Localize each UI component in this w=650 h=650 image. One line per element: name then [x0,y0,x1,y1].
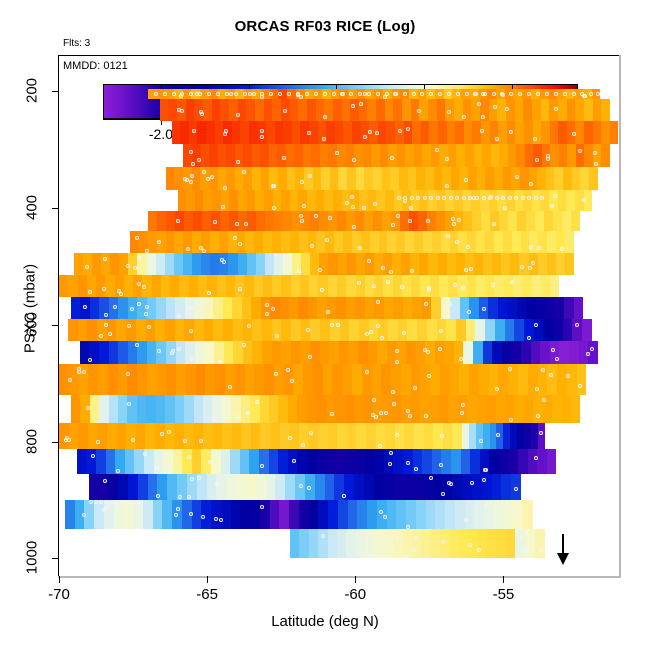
track-point-marker [195,313,199,317]
heatmap-cell [532,99,541,121]
y-axis-title: PSXC (mbar) [22,219,39,399]
heatmap-cell [496,395,505,423]
track-point-marker [380,336,384,340]
x-axis-tick-label: -55 [493,586,515,603]
heatmap-cell [290,190,299,210]
heatmap-cell [431,529,440,558]
heatmap-cell [272,275,281,297]
heatmap-cell [213,319,223,341]
heatmap-cell [523,190,532,210]
heatmap-cell [337,423,347,449]
heatmap-cell [320,144,329,167]
heatmap-cell [426,500,436,529]
track-point-marker [198,92,202,96]
heatmap-cell [419,253,428,275]
heatmap-cell [174,253,183,275]
heatmap-cell [266,474,276,500]
heatmap-cell [336,297,345,319]
heatmap-cell [216,474,226,500]
heatmap-cell [411,364,421,394]
heatmap-cell [408,167,417,190]
track-point-marker [550,204,554,208]
heatmap-cell [547,231,556,253]
heatmap-cell [498,121,507,143]
heatmap-cell [281,341,291,364]
heatmap-cell [182,449,192,474]
track-point-marker [445,184,449,188]
track-point-marker [492,92,496,96]
heatmap-cell [452,423,462,449]
heatmap-cell [526,211,535,231]
heatmap-cell [558,121,567,143]
heatmap-cell [367,99,376,121]
heatmap-cell [589,167,598,190]
heatmap-cell [221,500,231,529]
heatmap-cell [376,99,385,121]
heatmap-cell [448,395,457,423]
heatmap-cell [215,364,225,394]
heatmap-cell [145,423,155,449]
heatmap-cell [374,529,383,558]
heatmap-cell [547,449,557,474]
heatmap-cell [373,211,382,231]
heatmap-cell [87,319,97,341]
track-point-marker [296,92,300,96]
track-point-marker [482,478,486,482]
heatmap-cell [508,211,517,231]
heatmap-cell [298,297,307,319]
heatmap-cell [558,190,567,210]
track-point-marker [541,368,545,372]
heatmap-cell [441,297,450,319]
heatmap-cell [114,500,124,529]
heatmap-cell [243,319,253,341]
heatmap-cell [439,144,448,167]
heatmap-cell [537,167,546,190]
heatmap-cell [479,364,489,394]
heatmap-cell [510,423,517,449]
heatmap-cell [330,167,339,190]
heatmap-cell [398,319,408,341]
heatmap-cell [450,297,459,319]
track-point-marker [572,92,576,96]
heatmap-cell [117,423,127,449]
heatmap-cell [543,319,553,341]
track-point-marker [167,430,171,434]
heatmap-band [166,167,599,190]
heatmap-cell [202,211,211,231]
heatmap-cell [299,231,308,253]
heatmap-cell [538,231,547,253]
heatmap-cell [238,190,247,210]
heatmap-cell [148,211,157,231]
heatmap-cell [264,99,273,121]
heatmap-cell [356,423,366,449]
heatmap-cell [567,99,576,121]
heatmap-cell [439,275,448,297]
heatmap-cell [575,121,584,143]
heatmap-cell [309,529,318,558]
heatmap-cell [515,190,524,210]
track-point-marker [482,196,486,200]
heatmap-cell [394,190,403,210]
heatmap-cell [226,167,235,190]
heatmap-cell [352,231,361,253]
heatmap-cell [473,341,483,364]
track-point-marker [143,452,147,456]
heatmap-cell [566,190,575,210]
heatmap-cell [449,529,458,558]
track-point-marker [265,312,269,316]
track-point-marker [322,137,326,141]
heatmap-cell [94,500,104,529]
track-point-marker [154,92,158,96]
heatmap-cell [166,297,175,319]
track-point-marker [197,158,201,162]
track-point-marker [424,302,428,306]
heatmap-cell [510,253,519,275]
heatmap-cell [482,144,491,167]
heatmap-cell [298,190,307,210]
track-point-marker [395,536,399,540]
heatmap-cell [266,121,275,143]
track-point-marker [389,451,393,455]
heatmap-cell [174,167,183,190]
heatmap-cell [499,144,508,167]
heatmap-cell [99,341,109,364]
heatmap-cell [274,211,283,231]
heatmap-cell [393,449,403,474]
heatmap-cell [364,167,373,190]
track-point-marker [447,92,451,96]
heatmap-cell [529,231,538,253]
track-point-marker [438,92,442,96]
track-point-marker [297,269,301,273]
track-point-marker [545,92,549,96]
heatmap-cell [203,395,212,423]
heatmap-cell [396,231,405,253]
heatmap-cell [430,275,439,297]
heatmap-cell [448,144,457,167]
heatmap-cell [162,500,172,529]
track-point-marker [105,500,109,504]
heatmap-cell [226,275,235,297]
heatmap-cell [365,449,375,474]
track-point-marker [527,336,531,340]
track-point-marker [102,287,106,291]
track-point-marker [596,92,600,96]
heatmap-cell [366,423,376,449]
heatmap-cell [405,231,414,253]
heatmap-cell [256,253,265,275]
heatmap-cell [108,364,118,394]
heatmap-cell [184,395,193,423]
heatmap-cell [318,500,328,529]
heatmap-cell [508,449,518,474]
heatmap-cell [107,423,117,449]
heatmap-cell [460,297,469,319]
heatmap-cell [572,167,581,190]
heatmap-cell [143,500,153,529]
heatmap-cell [255,99,264,121]
track-point-marker [318,268,322,272]
heatmap-cell [240,500,250,529]
heatmap-cell [192,500,202,529]
track-point-marker [481,115,485,119]
heatmap-cell [224,341,234,364]
track-point-marker [287,92,291,96]
heatmap-cell [456,253,465,275]
heatmap-cell [402,99,411,121]
heatmap-cell [289,297,298,319]
heatmap-cell [576,144,585,167]
heatmap-cell [283,211,292,231]
heatmap-cell [538,253,547,275]
heatmap-cell [205,364,215,394]
track-point-marker [414,467,418,471]
heatmap-cell [355,211,364,231]
heatmap-cell [156,395,165,423]
heatmap-cell [328,529,337,558]
heatmap-cell [99,395,108,423]
heatmap-cell [352,121,361,143]
track-point-marker [255,400,259,404]
heatmap-cell [422,449,432,474]
track-point-marker [479,439,483,443]
track-point-marker [575,323,579,327]
track-point-marker [260,95,264,99]
heatmap-cell [146,395,155,423]
heatmap-cell [265,253,274,275]
heatmap-cell [378,121,387,143]
y-axis-tick [52,325,59,326]
heatmap-cell [467,231,476,253]
track-point-marker [133,266,137,270]
heatmap-cell [445,500,455,529]
track-point-marker [94,500,98,504]
heatmap-cell [194,395,203,423]
heatmap-cell [153,500,163,529]
heatmap-cell [342,364,352,394]
track-point-marker [228,385,232,389]
heatmap-cell [69,423,79,449]
heatmap-cell [477,167,486,190]
track-point-marker [593,151,597,155]
heatmap-cell [204,319,214,341]
heatmap-cell [348,341,358,364]
track-point-marker [176,507,180,511]
heatmap-cell [152,275,161,297]
track-point-marker [414,536,418,540]
heatmap-cell [270,423,280,449]
heatmap-cell [515,99,524,121]
heatmap-cell [213,297,222,319]
heatmap-cell [520,167,529,190]
heatmap-cell [196,364,206,394]
heatmap-cell [246,474,256,500]
heatmap-cell [483,341,493,364]
heatmap-cell [541,99,550,121]
heatmap-cell [280,297,289,319]
heatmap-cell [431,297,440,319]
track-point-marker [172,92,176,96]
heatmap-cell [229,99,238,121]
track-point-marker [235,222,239,226]
heatmap-cell [207,474,217,500]
heatmap-cell [506,190,515,210]
heatmap-cell [424,423,434,449]
track-point-marker [386,280,390,284]
heatmap-cell [476,423,483,449]
heatmap-cell [474,144,483,167]
track-point-marker [265,303,269,307]
track-point-marker [413,386,417,390]
track-point-marker [288,436,292,440]
heatmap-cell [259,449,269,474]
heatmap-cell [580,167,589,190]
heatmap-cell [469,297,478,319]
heatmap-cell [240,121,249,143]
heatmap-cell [488,297,497,319]
heatmap-cell [194,319,204,341]
track-point-marker [357,281,361,285]
heatmap-cell [264,364,274,394]
heatmap-cell [272,99,281,121]
heatmap-cell [565,253,574,275]
heatmap-cell [411,395,420,423]
heatmap-cell [218,144,227,167]
heatmap-cell [494,275,503,297]
heatmap-cell [471,190,480,210]
heatmap-cell [291,275,300,297]
heatmap-cell [154,449,164,474]
heatmap-cell [374,253,383,275]
heatmap-cell [204,341,214,364]
heatmap-cell [564,297,573,319]
heatmap-cell [183,253,192,275]
heatmap-cell [385,99,394,121]
heatmap-cell [512,231,521,253]
heatmap-cell [513,275,522,297]
heatmap-cell [128,474,138,500]
heatmap-cell [107,319,117,341]
track-point-marker [301,443,305,447]
heatmap-cell [445,211,454,231]
heatmap-cell [397,144,406,167]
heatmap-cell [272,231,281,253]
track-point-marker [121,500,125,504]
heatmap-cell [515,529,525,558]
heatmap-cell [213,423,223,449]
heatmap-cell [226,144,235,167]
track-point-marker [375,131,379,135]
heatmap-cell [297,449,307,474]
track-point-marker [119,292,123,296]
heatmap-cell [474,500,484,529]
heatmap-cell [307,449,317,474]
heatmap-cell [252,144,261,167]
heatmap-cell [185,341,195,364]
heatmap-cell [521,341,531,364]
heatmap-plot-area[interactable] [59,56,619,576]
heatmap-cell [428,190,437,210]
heatmap-cell [531,423,538,449]
track-point-marker [408,219,412,223]
track-point-marker [469,267,473,271]
heatmap-cell [184,423,194,449]
heatmap-cell [232,297,241,319]
heatmap-cell [393,99,402,121]
heatmap-cell [289,500,299,529]
heatmap-cell [354,395,363,423]
heatmap-cell [440,364,450,394]
heatmap-cell [355,449,365,474]
heatmap-cell [387,231,396,253]
heatmap-cell [556,253,565,275]
heatmap-cell [89,474,99,500]
track-point-marker [534,456,538,460]
heatmap-cell [166,167,175,190]
heatmap-cell [192,167,201,190]
heatmap-band [178,190,593,210]
track-point-marker [362,206,366,210]
heatmap-cell [147,341,157,364]
heatmap-cell [138,474,148,500]
heatmap-cell [412,121,421,143]
heatmap-cell [422,297,431,319]
heatmap-cell [447,121,456,143]
track-point-marker [157,240,161,244]
heatmap-cell [307,99,316,121]
track-point-marker [493,105,497,109]
heatmap-cell [108,474,118,500]
track-point-marker [224,129,228,133]
y-axis-tick [52,208,59,209]
heatmap-cell [275,121,284,143]
heatmap-cell [429,121,438,143]
heatmap-cell [401,364,411,394]
track-point-marker [537,246,541,250]
heatmap-band [160,99,610,121]
page-title: ORCAS RF03 RICE (Log) [0,18,650,35]
track-point-marker [300,180,304,184]
heatmap-cell [465,500,475,529]
heatmap-cell [593,99,602,121]
track-point-marker [578,384,582,388]
heatmap-cell [435,500,445,529]
track-point-marker [376,92,380,96]
heatmap-cell [281,190,290,210]
track-point-marker [177,347,181,351]
heatmap-cell [429,395,438,423]
heatmap-cell [195,190,204,210]
heatmap-cell [235,364,245,394]
heatmap-cell [494,500,504,529]
track-point-marker [438,347,442,351]
heatmap-cell [442,474,452,500]
track-point-marker [389,270,393,274]
heatmap-cell [254,231,263,253]
heatmap-cell [197,121,206,143]
heatmap-cell [209,144,218,167]
track-point-marker [398,129,402,133]
heatmap-cell [485,231,494,253]
track-point-marker [549,373,553,377]
heatmap-cell [494,167,503,190]
heatmap-cell [223,297,232,319]
heatmap-cell [338,167,347,190]
track-point-marker [186,247,190,251]
